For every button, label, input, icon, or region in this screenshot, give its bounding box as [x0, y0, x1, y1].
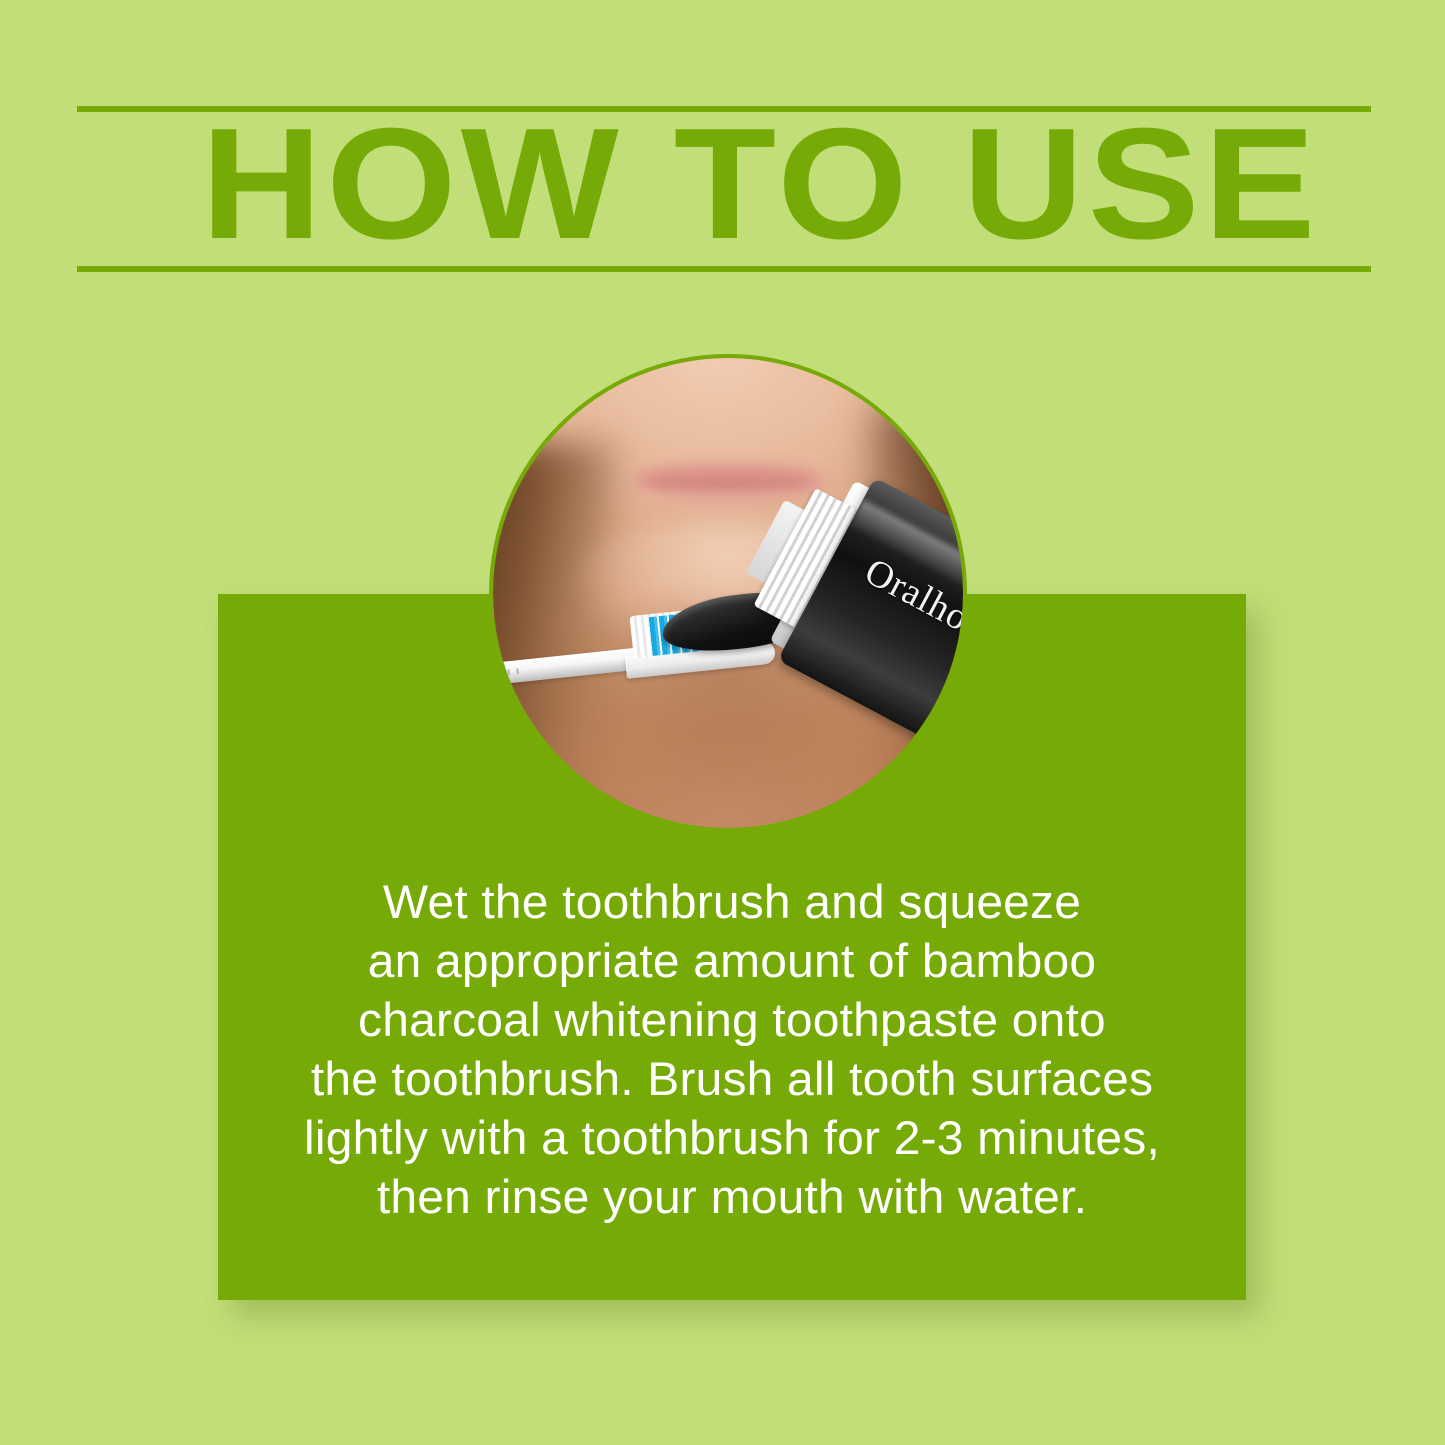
- header-block: HOW TO USE: [77, 106, 1371, 278]
- toothbrush-handle-grooves: [493, 668, 519, 677]
- title-rule-bottom: [77, 266, 1371, 272]
- product-photo-circle: Oralhoq: [493, 358, 963, 828]
- page-title: HOW TO USE: [201, 102, 1431, 266]
- how-to-use-poster: HOW TO USE Wet the toothbrush and squeez…: [0, 0, 1445, 1445]
- lip-line: [648, 481, 808, 489]
- product-photo-image: Oralhoq: [493, 358, 963, 828]
- instruction-text: Wet the toothbrush and squeeze an approp…: [208, 872, 1257, 1226]
